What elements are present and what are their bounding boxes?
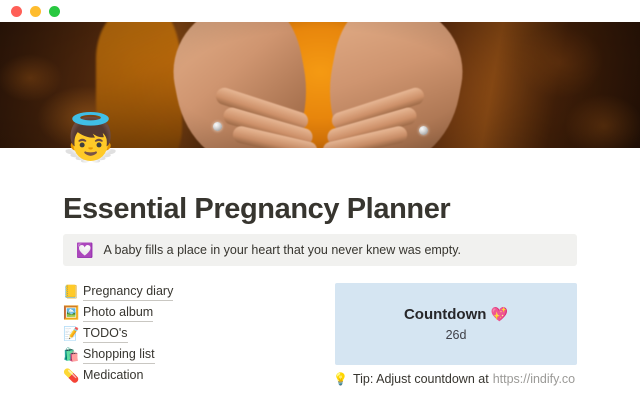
window-titlebar (0, 0, 640, 22)
list-item-medication[interactable]: 💊 Medication (63, 365, 313, 386)
countdown-value: 26d (446, 327, 467, 343)
heart-decoration-icon: 💟 (76, 243, 93, 257)
quote-callout[interactable]: 💟 A baby fills a place in your heart tha… (63, 234, 577, 266)
list-item-label[interactable]: Medication (83, 367, 143, 384)
countdown-title-text: Countdown (404, 306, 486, 323)
close-button[interactable] (11, 6, 22, 17)
indify-link[interactable]: https://indify.co (493, 371, 575, 387)
list-item-pregnancy-diary[interactable]: 📒 Pregnancy diary (63, 281, 313, 302)
memo-icon: 📝 (63, 326, 83, 342)
page-title: Essential Pregnancy Planner (63, 192, 450, 226)
light-bulb-icon: 💡 (333, 372, 348, 387)
list-item-label[interactable]: Pregnancy diary (83, 283, 173, 301)
minimize-button[interactable] (30, 6, 41, 17)
list-item-shopping-list[interactable]: 🛍️ Shopping list (63, 344, 313, 365)
app-window: 👼 Essential Pregnancy Planner 💟 A baby f… (0, 0, 640, 400)
list-item-todos[interactable]: 📝 TODO's (63, 323, 313, 344)
window-traffic-lights (11, 6, 60, 17)
sparkling-heart-icon: 💖 (491, 306, 508, 322)
list-item-photo-album[interactable]: 🖼️ Photo album (63, 302, 313, 323)
framed-picture-icon: 🖼️ (63, 305, 83, 321)
countdown-tip: 💡 Tip: Adjust countdown at https://indif… (333, 371, 575, 387)
list-item-label[interactable]: Shopping list (83, 346, 155, 364)
page-icon-angel[interactable]: 👼 (62, 114, 119, 160)
maximize-button[interactable] (49, 6, 60, 17)
shopping-bags-icon: 🛍️ (63, 347, 83, 363)
notebook-icon: 📒 (63, 284, 83, 300)
quote-callout-text: A baby fills a place in your heart that … (103, 242, 461, 258)
countdown-tip-text: Tip: Adjust countdown at (353, 371, 489, 387)
pill-icon: 💊 (63, 368, 83, 384)
list-item-label[interactable]: Photo album (83, 304, 153, 322)
countdown-title-row: Countdown 💖 (404, 305, 508, 324)
countdown-widget[interactable]: Countdown 💖 26d (335, 283, 577, 365)
page-link-list: 📒 Pregnancy diary 🖼️ Photo album 📝 TODO'… (63, 281, 313, 386)
list-item-label[interactable]: TODO's (83, 325, 128, 343)
